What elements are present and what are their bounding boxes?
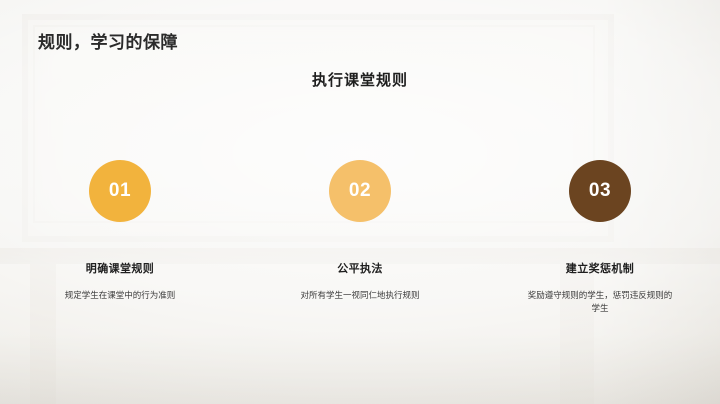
column-description-1: 规定学生在课堂中的行为准则 — [45, 289, 195, 302]
number-badge-2: 02 — [329, 160, 391, 222]
column-title-1: 明确课堂规则 — [86, 260, 154, 276]
column-item-2: 02 公平执法 对所有学生一视同仁地执行规则 — [240, 160, 480, 315]
column-item-1: 01 明确课堂规则 规定学生在课堂中的行为准则 — [0, 160, 240, 315]
column-description-2: 对所有学生一视同仁地执行规则 — [285, 289, 435, 302]
column-description-3: 奖励遵守规则的学生，惩罚违反规则的学生 — [525, 289, 675, 315]
column-title-3: 建立奖惩机制 — [566, 260, 634, 276]
slide: 规则，学习的保障 执行课堂规则 01 明确课堂规则 规定学生在课堂中的行为准则 … — [0, 0, 720, 404]
content-columns: 01 明确课堂规则 规定学生在课堂中的行为准则 02 公平执法 对所有学生一视同… — [0, 160, 720, 315]
column-title-2: 公平执法 — [337, 260, 383, 276]
column-item-3: 03 建立奖惩机制 奖励遵守规则的学生，惩罚违反规则的学生 — [480, 160, 720, 315]
slide-title: 规则，学习的保障 — [38, 28, 178, 53]
number-badge-1: 01 — [89, 160, 151, 222]
main-heading: 执行课堂规则 — [0, 69, 720, 90]
number-badge-3: 03 — [569, 160, 631, 222]
